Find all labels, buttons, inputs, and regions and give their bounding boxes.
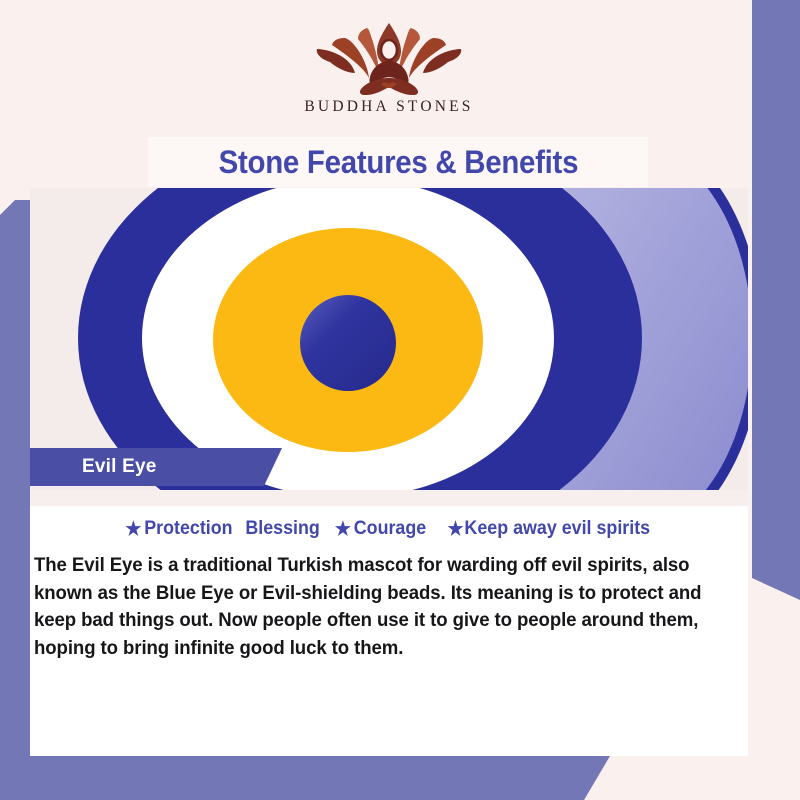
hero-image bbox=[30, 188, 748, 490]
lotus-meditation-logo-icon bbox=[314, 18, 464, 96]
description-text: The Evil Eye is a traditional Turkish ma… bbox=[34, 552, 706, 663]
panel-divider bbox=[30, 490, 748, 506]
benefit-label: Protection bbox=[144, 518, 232, 540]
benefits-list: ★ Protection Blessing ★ Courage ★ Keep a… bbox=[30, 518, 748, 540]
benefit-label: Keep away evil spirits bbox=[464, 518, 650, 540]
infographic-page: BUDDHA STONES Stone Features & Benefits bbox=[0, 0, 800, 800]
content-card: BUDDHA STONES Stone Features & Benefits bbox=[30, 0, 748, 756]
star-icon: ★ bbox=[447, 520, 463, 539]
title-plate: Stone Features & Benefits bbox=[148, 137, 648, 187]
hero-ribbon-label: Evil Eye bbox=[82, 456, 156, 478]
benefit-label: Courage bbox=[354, 518, 426, 540]
hero-ribbon: Evil Eye bbox=[30, 448, 282, 486]
benefit-item-keep-away-evil-spirits: ★ Keep away evil spirits bbox=[447, 518, 650, 540]
brand-header: BUDDHA STONES bbox=[30, 0, 748, 140]
brand-name: BUDDHA STONES bbox=[304, 98, 473, 116]
evil-eye-bead-illustration-icon bbox=[30, 188, 748, 490]
benefit-item-blessing: Blessing bbox=[245, 518, 319, 540]
star-icon: ★ bbox=[335, 520, 351, 539]
frame-band-right bbox=[752, 0, 800, 600]
benefit-item-protection: ★ Protection bbox=[125, 518, 232, 540]
star-icon: ★ bbox=[125, 520, 141, 539]
description-panel: ★ Protection Blessing ★ Courage ★ Keep a… bbox=[30, 490, 748, 756]
page-title: Stone Features & Benefits bbox=[218, 144, 578, 181]
benefit-item-courage: ★ Courage bbox=[335, 518, 426, 540]
frame-band-bottom bbox=[0, 756, 610, 800]
